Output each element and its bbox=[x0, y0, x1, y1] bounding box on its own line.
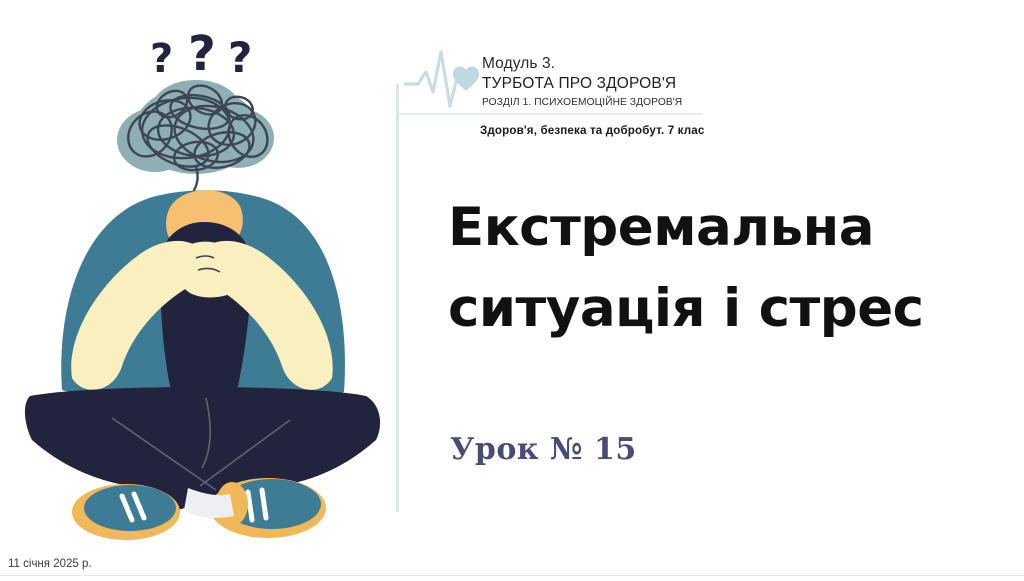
heart-icon bbox=[453, 67, 479, 91]
stressed-person-illustration: ? ? ? bbox=[0, 0, 400, 560]
slide-date: 11 січня 2025 р. bbox=[8, 558, 92, 570]
question-marks-group: ? ? ? bbox=[150, 26, 252, 82]
heartbeat-pulse-icon bbox=[404, 48, 482, 110]
svg-text:?: ? bbox=[188, 26, 216, 82]
vertical-divider bbox=[396, 84, 399, 512]
slide-title-line-2: ситуація і стрес bbox=[448, 269, 968, 350]
module-section: РОЗДІЛ 1. ПСИХОЕМОЦІЙНЕ ЗДОРОВ'Я bbox=[482, 95, 732, 110]
left-shoe bbox=[72, 484, 180, 540]
svg-text:?: ? bbox=[228, 33, 252, 82]
presentation-slide: ? ? ? bbox=[0, 0, 1024, 581]
tangled-thoughts-scribble bbox=[119, 80, 275, 190]
slide-title: Екстремальна ситуація і стрес bbox=[448, 188, 968, 349]
slide-title-line-1: Екстремальна bbox=[448, 188, 968, 269]
bottom-edge-line bbox=[0, 575, 1024, 576]
module-number: Модуль 3. bbox=[482, 54, 732, 74]
module-title: ТУРБОТА ПРО ЗДОРОВ'Я bbox=[482, 74, 732, 94]
svg-text:?: ? bbox=[150, 36, 173, 82]
course-subtitle: Здоров'я, безпека та добробут. 7 клас bbox=[480, 124, 705, 137]
module-header: Модуль 3. ТУРБОТА ПРО ЗДОРОВ'Я РОЗДІЛ 1.… bbox=[404, 44, 734, 114]
module-header-text: Модуль 3. ТУРБОТА ПРО ЗДОРОВ'Я РОЗДІЛ 1.… bbox=[482, 54, 732, 110]
lesson-number: Урок № 15 bbox=[450, 432, 637, 467]
